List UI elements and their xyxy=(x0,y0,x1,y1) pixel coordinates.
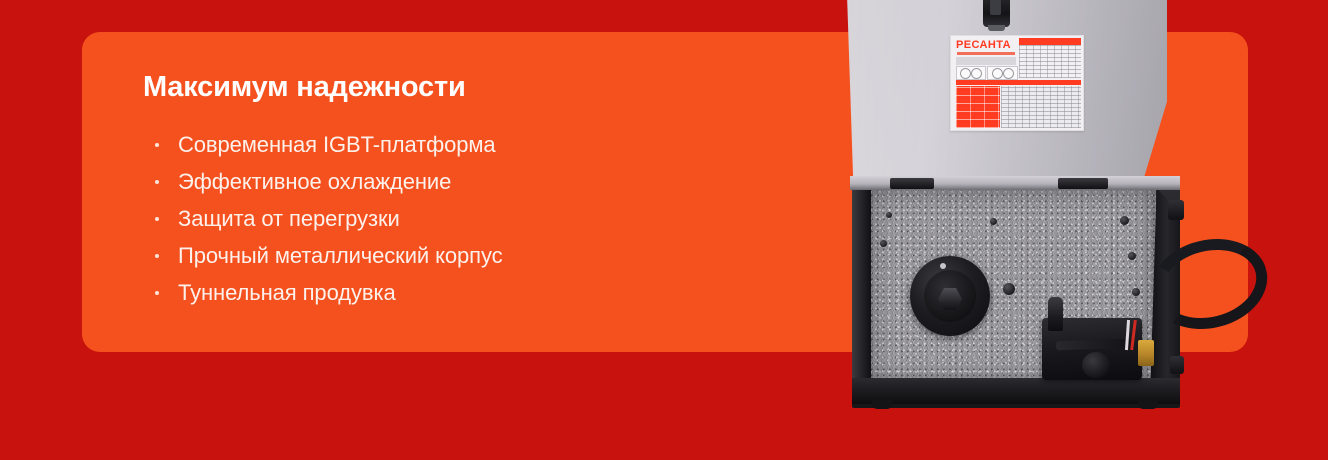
wire-spool-pin xyxy=(940,263,946,269)
bullet-dot-icon xyxy=(155,254,159,258)
machine-foot-left xyxy=(872,400,892,409)
list-item-label: Современная IGBT-платформа xyxy=(178,132,496,157)
feature-text-block: Максимум надежности Современная IGBT-пла… xyxy=(143,70,763,311)
spec-strip-grey xyxy=(956,57,1016,65)
panel-screw xyxy=(990,218,997,225)
machine-frame-bottom xyxy=(852,378,1180,404)
spec-label-underline xyxy=(957,52,1015,55)
spec-label-brand: РЕСАНТА xyxy=(956,39,1018,52)
spec-table-header-band xyxy=(1019,38,1081,45)
spec-label: РЕСАНТА xyxy=(950,35,1084,131)
list-item: Эффективное охлаждение xyxy=(143,163,763,200)
side-connector-bottom xyxy=(1170,356,1184,374)
spec-divider-band xyxy=(956,80,1081,85)
list-item: Прочный металлический корпус xyxy=(143,237,763,274)
spec-table-top-right xyxy=(1019,45,1081,78)
lid-hinge-left xyxy=(890,178,934,189)
panel-screw xyxy=(880,240,887,247)
list-item: Современная IGBT-платформа xyxy=(143,126,763,163)
list-item-label: Прочный металлический корпус xyxy=(178,243,503,268)
panel-screw-large xyxy=(1003,283,1015,295)
list-item: Защита от перегрузки xyxy=(143,200,763,237)
machine-frame-left xyxy=(852,188,871,400)
lid-latch-icon xyxy=(983,0,1010,27)
spec-table-bottom-left xyxy=(956,86,1000,128)
promo-banner: РЕСАНТА xyxy=(0,0,1328,460)
panel-screw xyxy=(886,212,892,218)
product-image-welding-machine: РЕСАНТА xyxy=(820,0,1240,420)
bullet-dot-icon xyxy=(155,291,159,295)
spec-table-bottom-right xyxy=(1001,86,1081,128)
spec-symbol-c xyxy=(992,68,1003,79)
side-connector-top xyxy=(1168,200,1184,220)
page-title: Максимум надежности xyxy=(143,70,763,104)
feature-list: Современная IGBT-платформа Эффективное о… xyxy=(143,126,763,311)
machine-foot-right xyxy=(1138,400,1158,409)
wire-feeder-tension-knob xyxy=(1048,297,1063,331)
panel-screw xyxy=(1120,216,1129,225)
panel-screw xyxy=(1128,252,1136,260)
lid-hinge-right xyxy=(1058,178,1108,189)
list-item-label: Эффективное охлаждение xyxy=(178,169,451,194)
panel-screw xyxy=(1132,288,1140,296)
bullet-dot-icon xyxy=(155,143,159,147)
list-item-label: Туннельная продувка xyxy=(178,280,396,305)
spec-symbol-a xyxy=(960,68,971,79)
background-corner-strip xyxy=(1167,0,1328,32)
lid-latch-lip xyxy=(988,25,1005,31)
wire-feeder-roller xyxy=(1082,352,1110,378)
spec-symbol-b xyxy=(971,68,982,79)
bullet-dot-icon xyxy=(155,217,159,221)
bullet-dot-icon xyxy=(155,180,159,184)
spec-symbol-d xyxy=(1003,68,1014,79)
list-item: Туннельная продувка xyxy=(143,274,763,311)
brass-gas-fitting xyxy=(1138,340,1154,366)
list-item-label: Защита от перегрузки xyxy=(178,206,400,231)
